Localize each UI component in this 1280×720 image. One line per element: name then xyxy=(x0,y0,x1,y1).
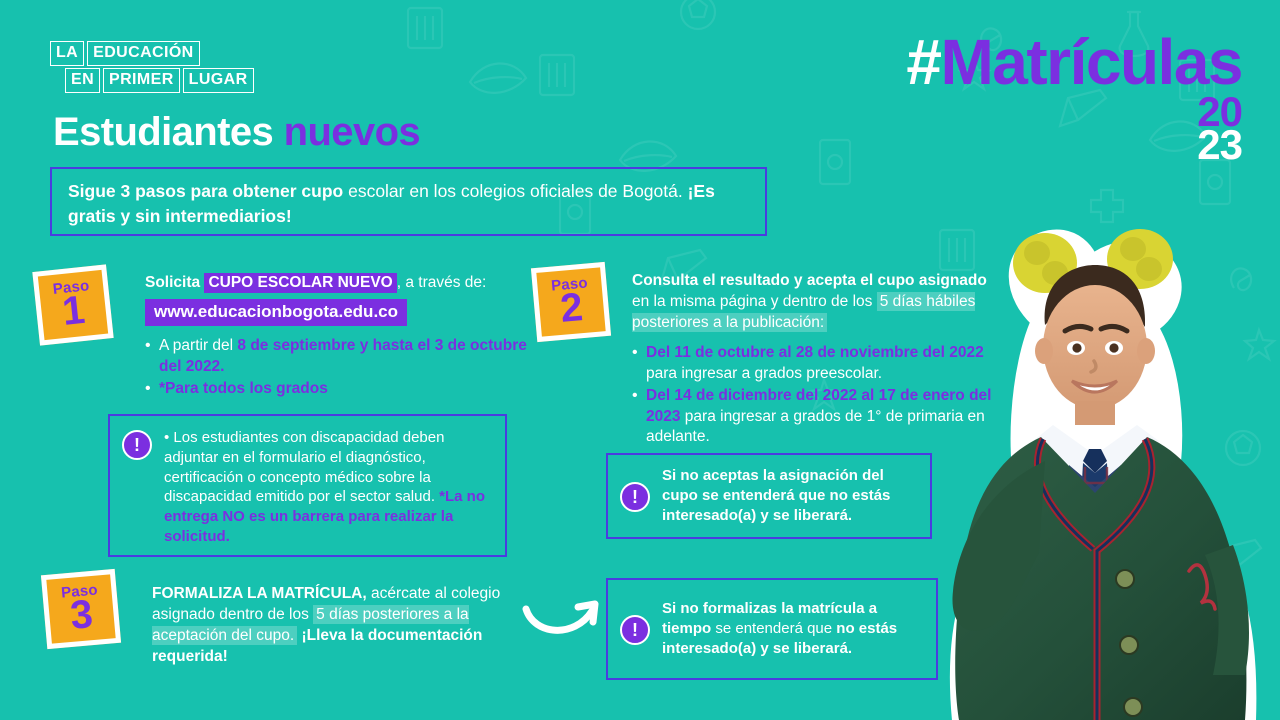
step-1-badge-number: 1 xyxy=(61,291,87,331)
step-2-badge-number: 2 xyxy=(559,288,584,328)
step-2-bullet-list: Del 11 de octubre al 28 de noviembre del… xyxy=(632,343,992,448)
hashtag-line: #Matrículas xyxy=(906,36,1242,90)
step-2-content: Consulta el resultado y acepta el cupo a… xyxy=(632,270,992,449)
logo-chip-primer: PRIMER xyxy=(103,68,180,93)
step-3-heading: FORMALIZA LA MATRÍCULA, acércate al cole… xyxy=(152,583,532,667)
hashtag-symbol: # xyxy=(906,26,940,98)
step-1-note-text: • Los estudiantes con discapacidad deben… xyxy=(164,428,491,547)
intro-plain-1: escolar en los colegios oficiales de Bog… xyxy=(343,181,687,201)
step-2-bullet-1-plain: para ingresar a grados preescolar. xyxy=(646,365,882,382)
step-3-note-box: ! Si no formalizas la matrícula a tiempo… xyxy=(606,578,938,680)
step-2-badge: Paso 2 xyxy=(531,262,611,342)
step-2-note-text: Si no aceptas la asignación del cupo se … xyxy=(662,466,916,525)
logo-line-2: EN PRIMER LUGAR xyxy=(65,68,254,93)
step-1-heading-pre: Solicita xyxy=(145,274,204,291)
step-1-badge: Paso 1 xyxy=(32,264,113,345)
brand-logo: LA EDUCACIÓN EN PRIMER LUGAR xyxy=(50,41,254,93)
enrollment-url-link[interactable]: www.educacionbogota.edu.co xyxy=(145,299,407,326)
intro-callout-box: Sigue 3 pasos para obtener cupo escolar … xyxy=(50,167,767,236)
logo-chip-en: EN xyxy=(65,68,100,93)
step-2-bullet-2-plain: para ingresar a grados de 1° de primaria… xyxy=(646,408,985,446)
step-2-heading: Consulta el resultado y acepta el cupo a… xyxy=(632,270,992,333)
intro-text: Sigue 3 pasos para obtener cupo escolar … xyxy=(68,179,749,230)
intro-bold-1: Sigue 3 pasos para obtener cupo xyxy=(68,181,343,201)
step-1-heading-post: , a través de: xyxy=(397,274,487,291)
step-1-heading: Solicita CUPO ESCOLAR NUEVO, a través de… xyxy=(145,272,530,293)
note-3-plain: se entenderá que xyxy=(711,620,836,637)
logo-chip-educacion: EDUCACIÓN xyxy=(87,41,200,66)
exclamation-icon: ! xyxy=(620,615,650,645)
step-3-content: FORMALIZA LA MATRÍCULA, acércate al cole… xyxy=(152,583,532,667)
step-1-bullet-list: A partir del 8 de septiembre y hasta el … xyxy=(145,336,530,399)
logo-line-1: LA EDUCACIÓN xyxy=(50,41,200,66)
step-3-heading-bold: FORMALIZA LA MATRÍCULA, xyxy=(152,585,367,602)
campaign-year-top: 20 xyxy=(906,94,1242,129)
step-2-heading-bold: Consulta el resultado y acepta el cupo a… xyxy=(632,272,987,289)
list-item: Del 11 de octubre al 28 de noviembre del… xyxy=(632,343,992,385)
step-2-heading-plain: en la misma página y dentro de los xyxy=(632,293,877,310)
logo-chip-lugar: LUGAR xyxy=(183,68,254,93)
step-1-heading-highlight: CUPO ESCOLAR NUEVO xyxy=(204,273,396,293)
page-title: Estudiantes nuevos xyxy=(53,110,420,155)
page-title-word-1: Estudiantes xyxy=(53,110,273,154)
list-item: Del 14 de diciembre del 2022 al 17 de en… xyxy=(632,386,992,448)
list-item: *Para todos los grados xyxy=(145,379,530,400)
step-1-bullet-2-emph: *Para todos los grados xyxy=(159,380,328,397)
campaign-hashtag: #Matrículas 20 23 xyxy=(906,36,1242,162)
step-3-note-text: Si no formalizas la matrícula a tiempo s… xyxy=(662,599,922,658)
step-2-note-box: ! Si no aceptas la asignación del cupo s… xyxy=(606,453,932,539)
page-title-word-2: nuevos xyxy=(284,110,420,154)
exclamation-icon: ! xyxy=(122,430,152,460)
curved-arrow-icon xyxy=(520,595,606,647)
list-item: A partir del 8 de septiembre y hasta el … xyxy=(145,336,530,378)
logo-chip-la: LA xyxy=(50,41,84,66)
step-1-note-box: ! • Los estudiantes con discapacidad deb… xyxy=(108,414,507,557)
step-3-badge-number: 3 xyxy=(69,595,94,635)
campaign-year-bottom: 23 xyxy=(906,127,1242,162)
step-1-bullet-1-plain: A partir del xyxy=(159,337,237,354)
step-1-content: Solicita CUPO ESCOLAR NUEVO, a través de… xyxy=(145,272,530,400)
step-3-badge: Paso 3 xyxy=(41,569,121,649)
step-2-bullet-1-emph: Del 11 de octubre al 28 de noviembre del… xyxy=(646,344,984,361)
note-1-plain: • Los estudiantes con discapacidad deben… xyxy=(164,429,444,505)
exclamation-icon: ! xyxy=(620,482,650,512)
